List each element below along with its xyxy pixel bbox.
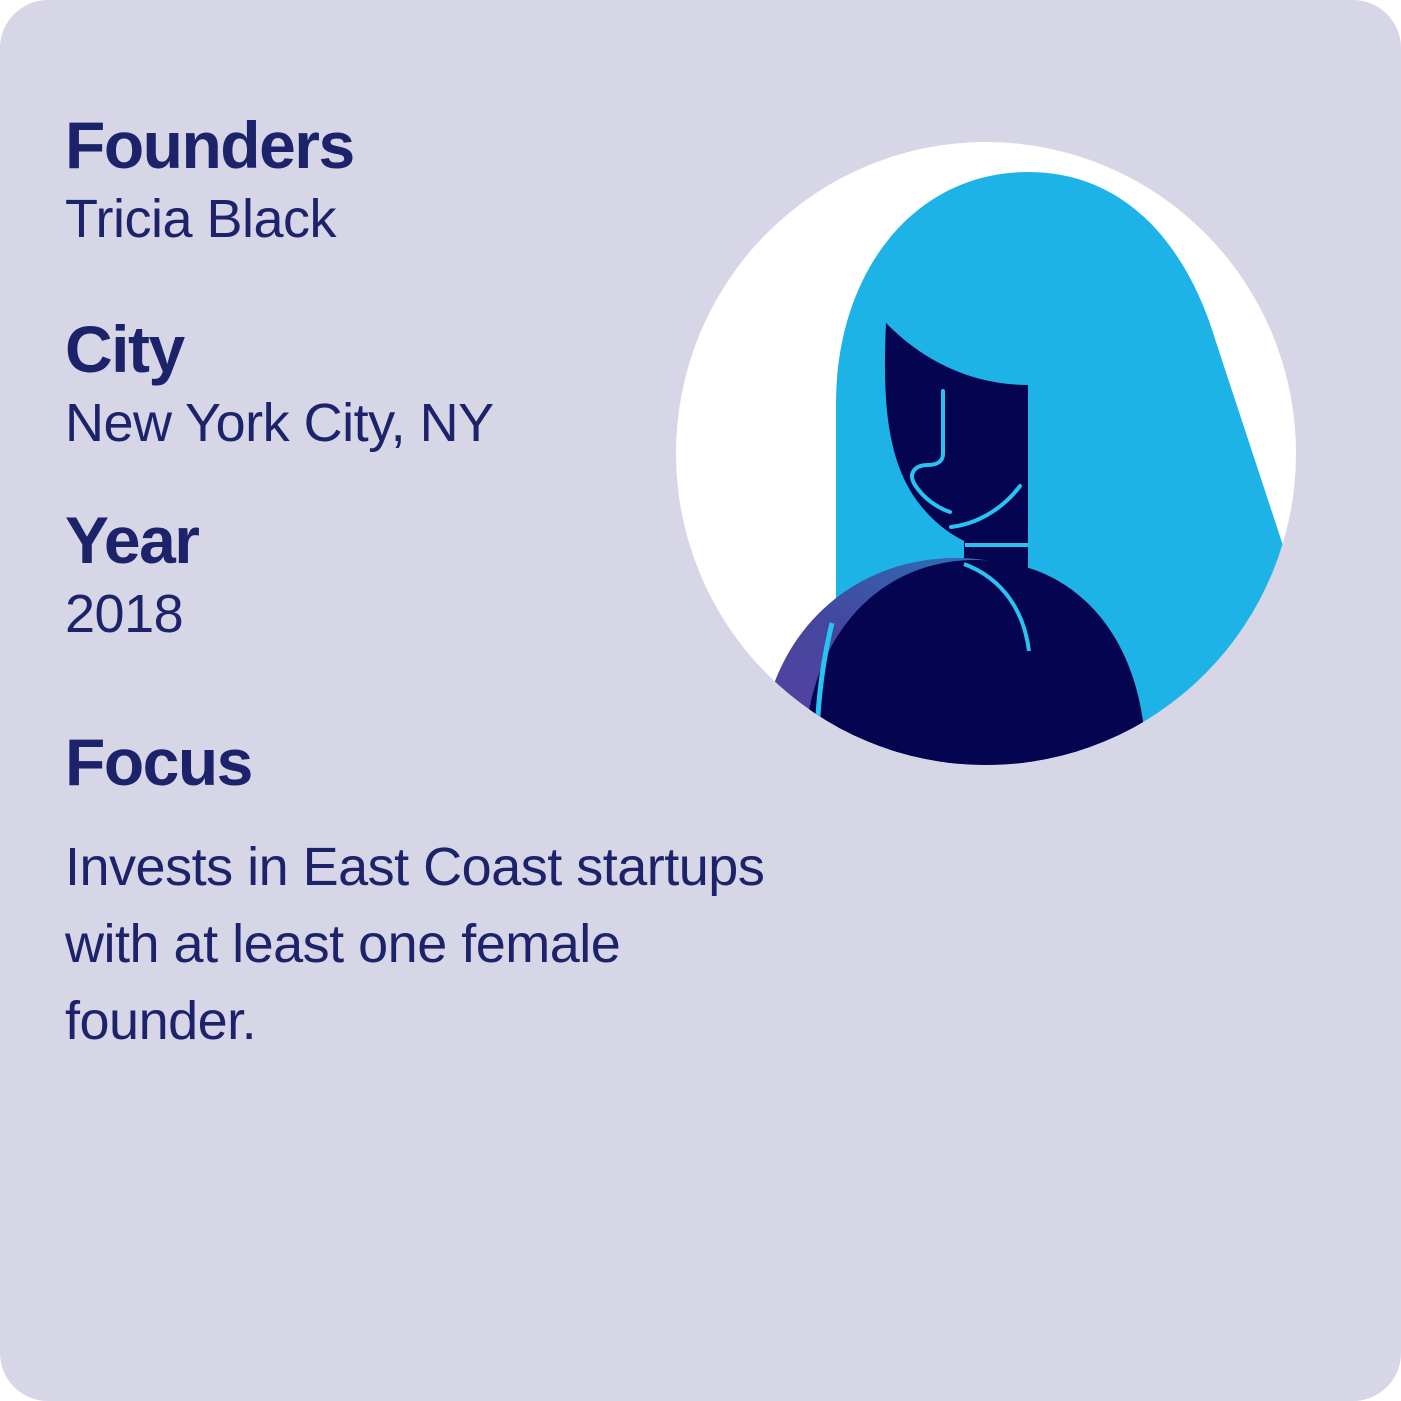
field-focus: Focus Invests in East Coast startups wit… bbox=[65, 729, 825, 1059]
field-value-focus: Invests in East Coast startups with at l… bbox=[65, 829, 805, 1059]
founder-avatar-illustration bbox=[676, 142, 1296, 765]
founder-profile-card: Founders Tricia Black City New York City… bbox=[0, 0, 1401, 1401]
